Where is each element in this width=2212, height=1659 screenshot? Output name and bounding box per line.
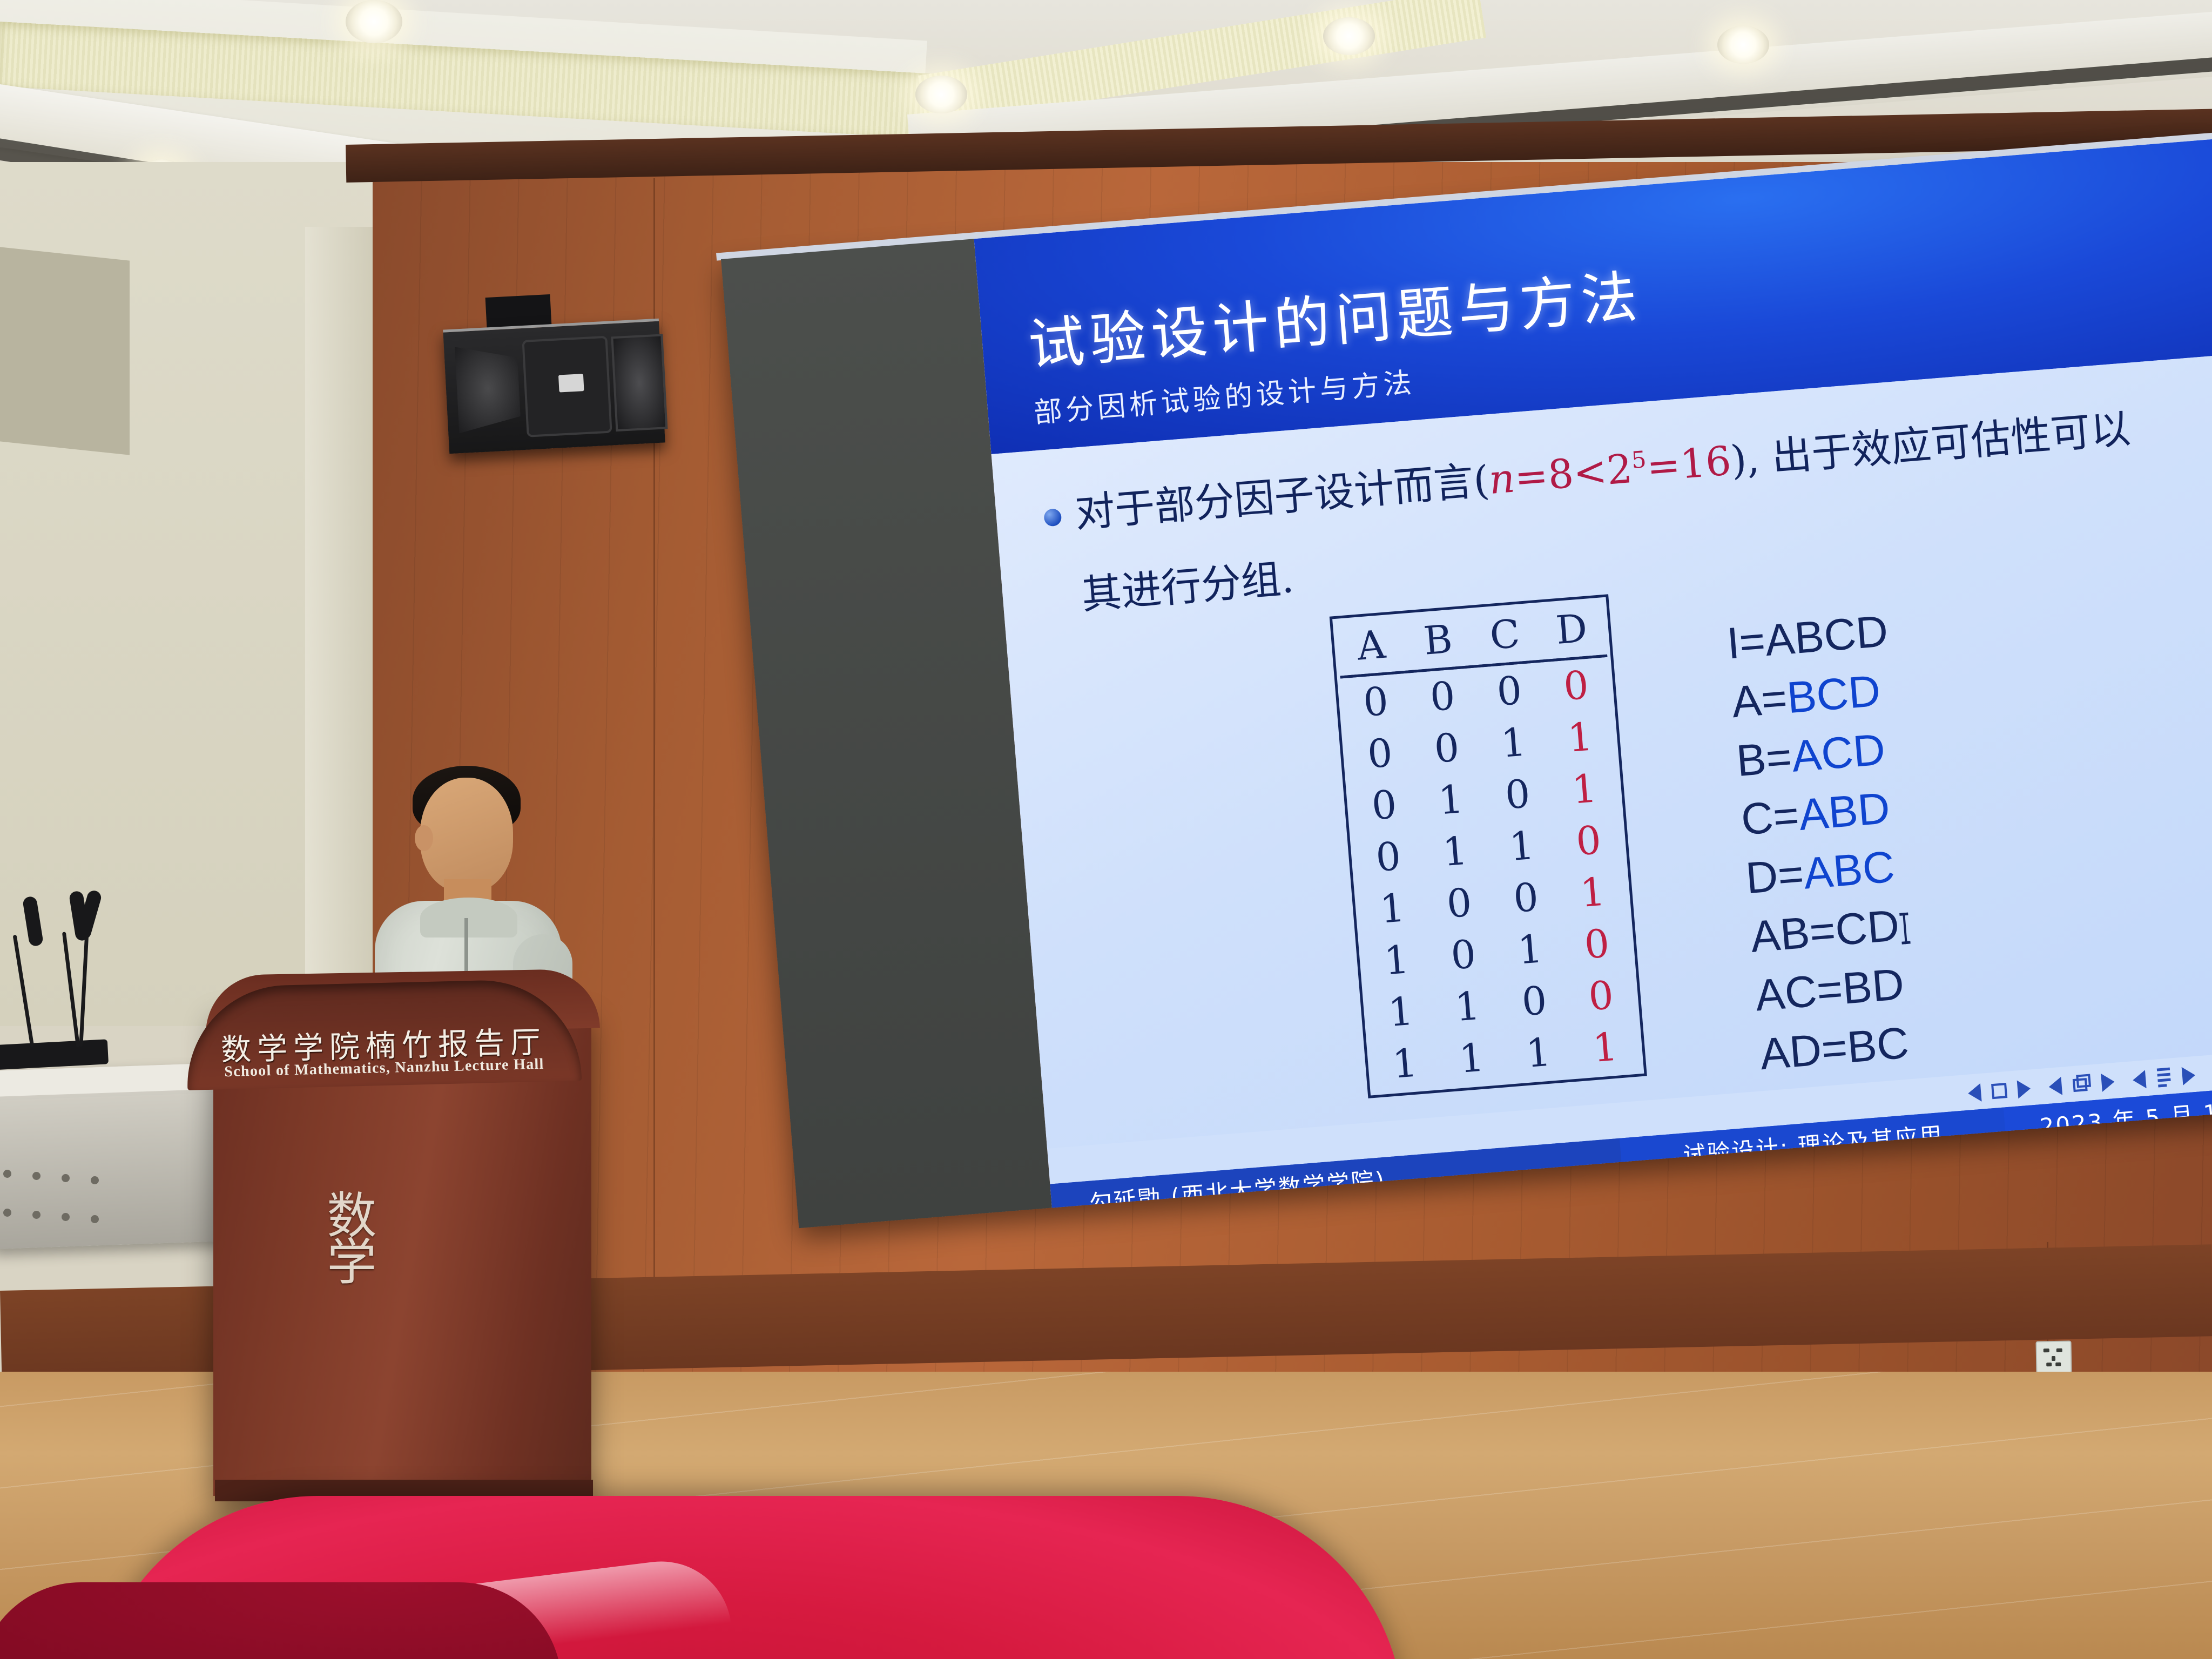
bullet-dot-icon [1043,508,1062,527]
table-front-vents [0,1166,130,1231]
math-exponent-5: 5 [1630,446,1647,474]
table-cell-D: 1 [1545,709,1615,766]
slide-body: 对于部分因子设计而言(n=8<25=16), 出于效应可估性可以 其进行分组. … [992,355,2212,1149]
alias-rhs: ABC [1802,842,1896,899]
alias-lhs: I= [1725,616,1767,668]
alias-lhs: AB= [1749,906,1837,962]
bullet-text-post: , 出于效应可估性可以 [1745,406,2133,483]
table-cell-C: 0 [1499,973,1569,1030]
col-header-D: D [1536,601,1607,661]
presenter-ear [415,825,433,851]
downlight-icon [346,0,402,43]
math-eq1: = [1513,453,1550,502]
loudspeaker [443,319,665,454]
alias-lhs: AD= [1758,1023,1850,1080]
alias-lhs: D= [1744,849,1805,903]
table-cell-A: 0 [1345,725,1415,782]
alias-lhs: AC= [1754,965,1845,1021]
table-cell-A: 1 [1370,1035,1440,1092]
table-cell-D: 0 [1561,915,1632,973]
alias-rhs: CD [1833,901,1901,955]
alias-rhs: ABCD [1763,606,1890,665]
table-cell-C: 0 [1491,869,1561,926]
math-eq2: = [1645,442,1682,491]
microphone-base [0,1039,109,1070]
math-lt: < [1572,448,1609,497]
slide-title: 试验设计的问题与方法 [1025,251,1645,381]
math-val-8: 8 [1546,450,1575,498]
power-outlet-icon [2035,1340,2072,1373]
table-cell-B: 1 [1420,823,1491,880]
table-cell-B: 0 [1407,666,1478,725]
table-cell-A: 0 [1340,672,1412,730]
speaker-horn-right-icon [611,334,667,431]
presenter-collar [420,898,517,938]
table-cell-C: 0 [1482,766,1553,823]
next-deck-arrow-icon[interactable] [2101,1073,2115,1092]
section-lines-icon[interactable] [2152,1065,2175,1090]
bullet-text-pre: 对于部分因子设计而言 [1073,458,1475,537]
alias-relation: AD=BC [1758,1013,1923,1084]
table-cell-C: 1 [1478,714,1549,771]
table-cell-C: 0 [1474,661,1545,719]
downlight-icon [1717,26,1769,64]
table-cell-C: 1 [1503,1024,1574,1082]
table-cell-C: 1 [1486,818,1557,875]
col-header-B: B [1402,611,1474,672]
prev-frame-arrow-icon[interactable] [1967,1083,1982,1103]
table-cell-A: 1 [1365,983,1436,1041]
chair-shadow-side [0,1582,562,1659]
next-frame-arrow-icon[interactable] [2017,1080,2032,1099]
alias-relation-list: I=ABCDA=BCDB=ACDC=ABDD=ABCAB=CDAC=BDAD=B… [1725,602,1924,1084]
table-cell-D: 0 [1553,812,1624,869]
table-cell-B: 0 [1428,926,1499,983]
alias-rhs: BC [1845,1019,1911,1073]
col-header-C: C [1469,606,1541,666]
table-cell-B: 0 [1411,719,1482,777]
presenter-head [420,778,513,892]
table-cell-B: 1 [1436,1029,1507,1087]
wall-left-recess [0,247,130,455]
deck-navigation[interactable] [2048,1070,2115,1098]
speaker-brand-badge [558,374,584,392]
alias-rhs: BD [1840,960,1906,1014]
frame-navigation[interactable] [1967,1078,2032,1104]
next-section-arrow-icon[interactable] [2182,1066,2196,1085]
design-matrix-table: A B C D 00000011010101101001101011001111 [1330,594,1647,1098]
speaker-horn-left-icon [455,344,521,434]
text-cursor-icon [1899,913,1911,945]
school-seal-emblem: 数学 [311,1172,383,1299]
table-cell-D: 0 [1566,967,1636,1024]
deck-stack-icon[interactable] [2068,1072,2095,1097]
table-cell-D: 1 [1557,864,1628,921]
table-cell-D: 0 [1541,656,1612,714]
speaker-mount-bracket [485,294,552,329]
beamer-slide: 试验设计的问题与方法 部分因析试验的设计与方法 对于部分因子设计而言(n=8<2… [974,139,2212,1208]
table-cell-A: 1 [1357,880,1428,937]
alias-lhs: C= [1739,791,1801,845]
alias-rhs: BCD [1785,666,1882,723]
table-cell-A: 1 [1361,932,1432,989]
math-var-n: n [1487,455,1516,504]
math-base-2: 2 [1605,446,1634,494]
downlight-icon [915,76,967,113]
table-cell-D: 1 [1549,760,1620,818]
col-header-A: A [1336,617,1407,677]
frame-square-icon[interactable] [1988,1080,2011,1103]
projection-screen: 试验设计的问题与方法 部分因析试验的设计与方法 对于部分因子设计而言(n=8<2… [721,140,2212,1229]
table-cell-D: 1 [1570,1019,1641,1076]
bullet-line-2: 其进行分组. [1079,546,1296,621]
speaker-woofer-icon [522,336,612,437]
alias-rhs: ABD [1797,784,1891,840]
lecture-hall-photo: 数学学院楠竹报告厅 School of Mathematics, Nanzhu … [0,0,2212,1659]
alias-lhs: A= [1730,673,1789,727]
table-cell-B: 0 [1424,874,1494,932]
prev-deck-arrow-icon[interactable] [2048,1077,2062,1096]
lectern-nameplate: 数学学院楠竹报告厅 School of Mathematics, Nanzhu … [185,978,582,1090]
alias-rhs: ACD [1790,725,1887,781]
table-cell-C: 1 [1495,921,1566,978]
section-navigation[interactable] [2132,1063,2196,1092]
table-cell-A: 0 [1348,777,1419,834]
table-cell-B: 1 [1415,771,1486,828]
downlight-icon [1323,17,1375,55]
math-val-16: 16 [1678,437,1733,488]
table-cell-A: 0 [1353,828,1424,886]
table-cell-B: 1 [1432,978,1503,1035]
prev-section-arrow-icon[interactable] [2132,1070,2147,1089]
alias-lhs: B= [1735,732,1794,786]
